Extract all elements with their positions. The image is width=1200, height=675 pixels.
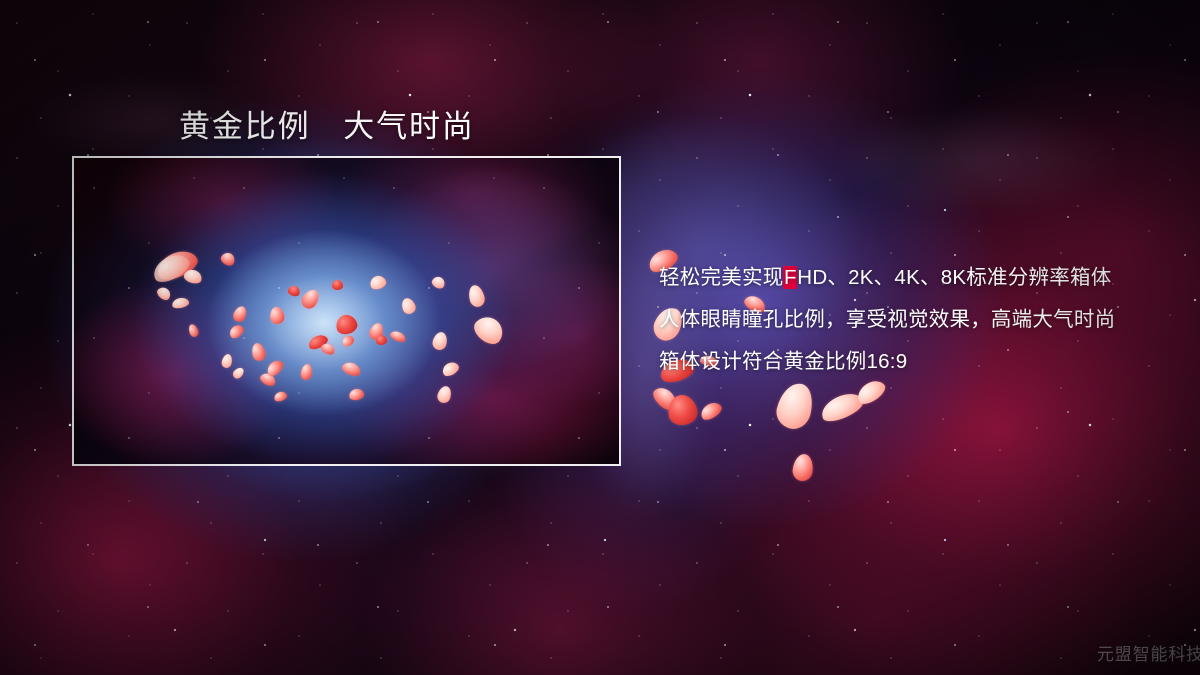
body-line-3: 箱体设计符合黄金比例16:9 bbox=[659, 341, 1179, 383]
picture-frame bbox=[72, 156, 621, 466]
body-line-1: 轻松完美实现FHD、2K、4K、8K标准分辨率箱体 bbox=[659, 257, 1179, 299]
body-text-block: 轻松完美实现FHD、2K、4K、8K标准分辨率箱体 人体眼睛瞳孔比例，享受视觉效… bbox=[659, 257, 1179, 383]
presentation-slide: 黄金比例 大气时尚 轻松完美实现FHD、2K、4K、8K标准分辨率箱体 人体眼睛… bbox=[0, 0, 1200, 675]
highlighted-character: F bbox=[783, 266, 797, 289]
frame-starfield bbox=[74, 158, 619, 464]
petal bbox=[332, 280, 343, 290]
body-line-2: 人体眼睛瞳孔比例，享受视觉效果，高端大气时尚 bbox=[659, 299, 1179, 341]
body-line-1-before: 轻松完美实现 bbox=[659, 266, 783, 289]
watermark: 元盟智能科技 bbox=[1097, 640, 1200, 665]
body-line-1-after: HD、2K、4K、8K标准分辨率箱体 bbox=[797, 266, 1111, 289]
page-title: 黄金比例 大气时尚 bbox=[179, 101, 475, 146]
picture-frame-content bbox=[74, 158, 619, 464]
